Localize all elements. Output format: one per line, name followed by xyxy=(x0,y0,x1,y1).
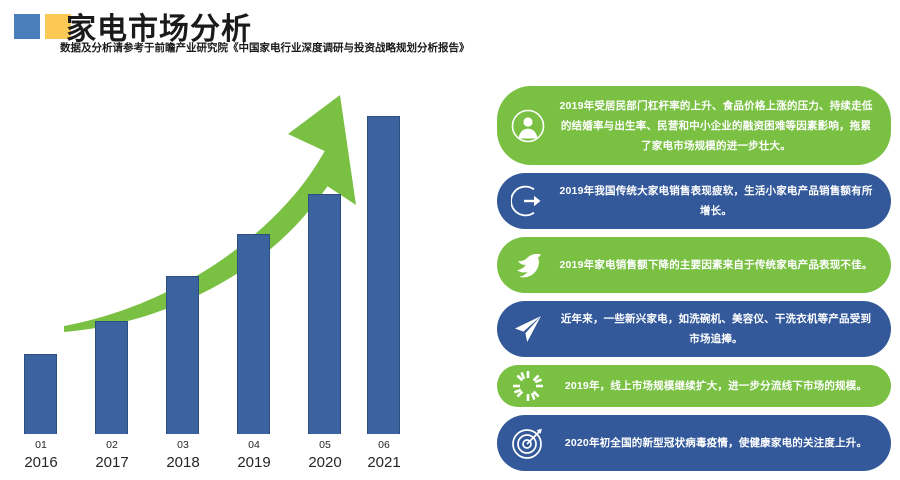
insight-card-6[interactable]: 2020年初全国的新型冠状病毒疫情，使健康家电的关注度上升。 xyxy=(497,415,891,471)
insight-card-text: 近年来，一些新兴家电，如洗碗机、美容仪、干洗衣机等产品受到市场追捧。 xyxy=(559,309,891,349)
x-tick-2019: 04 2019 xyxy=(214,438,294,472)
slide-canvas: 家电市场分析 数据及分析请参考于前瞻产业研究院《中国家电行业深度调研与投资战略规… xyxy=(0,0,900,480)
bar-chart: 01 2016 02 2017 03 2018 04 2019 05 2020 … xyxy=(0,62,490,480)
bar-2020 xyxy=(308,194,341,434)
x-tick-number: 04 xyxy=(214,438,294,453)
insight-card-2[interactable]: 2019年我国传统大家电销售表现疲软，生活小家电产品销售额有所增长。 xyxy=(497,173,891,229)
insight-card-4[interactable]: 近年来，一些新兴家电，如洗碗机、美容仪、干洗衣机等产品受到市场追捧。 xyxy=(497,301,891,357)
paper-plane-icon xyxy=(497,301,559,357)
bird-icon xyxy=(497,237,559,293)
insight-card-text: 2019年家电销售额下降的主要因素来自于传统家电产品表现不佳。 xyxy=(559,255,891,275)
person-icon xyxy=(497,86,559,165)
page-subtitle: 数据及分析请参考于前瞻产业研究院《中国家电行业深度调研与投资战略规划分析报告》 xyxy=(60,40,470,55)
x-tick-year: 2017 xyxy=(72,453,152,472)
x-tick-year: 2021 xyxy=(344,453,424,472)
bar-2016 xyxy=(24,354,57,434)
x-tick-year: 2019 xyxy=(214,453,294,472)
insight-card-list: 2019年受居民部门杠杆率的上升、食品价格上涨的压力、持续走低的结婚率与出生率、… xyxy=(497,86,895,476)
insight-card-text: 2019年，线上市场规模继续扩大，进一步分流线下市场的规模。 xyxy=(559,376,891,396)
chart-x-axis: 01 2016 02 2017 03 2018 04 2019 05 2020 … xyxy=(0,434,490,480)
chart-plot-area xyxy=(0,62,490,434)
bar-2021 xyxy=(367,116,400,434)
x-tick-number: 01 xyxy=(1,438,81,453)
x-tick-year: 2018 xyxy=(143,453,223,472)
x-tick-2021: 06 2021 xyxy=(344,438,424,472)
header-square-blue xyxy=(14,14,40,39)
x-tick-number: 02 xyxy=(72,438,152,453)
insight-card-5[interactable]: 2019年，线上市场规模继续扩大，进一步分流线下市场的规模。 xyxy=(497,365,891,407)
x-tick-number: 06 xyxy=(344,438,424,453)
bar-2019 xyxy=(237,234,270,434)
insight-card-3[interactable]: 2019年家电销售额下降的主要因素来自于传统家电产品表现不佳。 xyxy=(497,237,891,293)
x-tick-2016: 01 2016 xyxy=(1,438,81,472)
insight-card-text: 2019年我国传统大家电销售表现疲软，生活小家电产品销售额有所增长。 xyxy=(559,181,891,221)
target-icon xyxy=(497,415,559,471)
bar-2017 xyxy=(95,321,128,434)
insight-card-text: 2020年初全国的新型冠状病毒疫情，使健康家电的关注度上升。 xyxy=(559,433,891,453)
x-tick-number: 03 xyxy=(143,438,223,453)
x-tick-year: 2016 xyxy=(1,453,81,472)
bar-2018 xyxy=(166,276,199,434)
x-tick-2018: 03 2018 xyxy=(143,438,223,472)
sunburst-icon xyxy=(497,365,559,407)
x-tick-2017: 02 2017 xyxy=(72,438,152,472)
header: 家电市场分析 数据及分析请参考于前瞻产业研究院《中国家电行业深度调研与投资战略规… xyxy=(0,0,500,62)
insight-card-1[interactable]: 2019年受居民部门杠杆率的上升、食品价格上涨的压力、持续走低的结婚率与出生率、… xyxy=(497,86,891,165)
insight-card-text: 2019年受居民部门杠杆率的上升、食品价格上涨的压力、持续走低的结婚率与出生率、… xyxy=(559,96,891,156)
arrow-right-circle-icon xyxy=(497,173,559,229)
